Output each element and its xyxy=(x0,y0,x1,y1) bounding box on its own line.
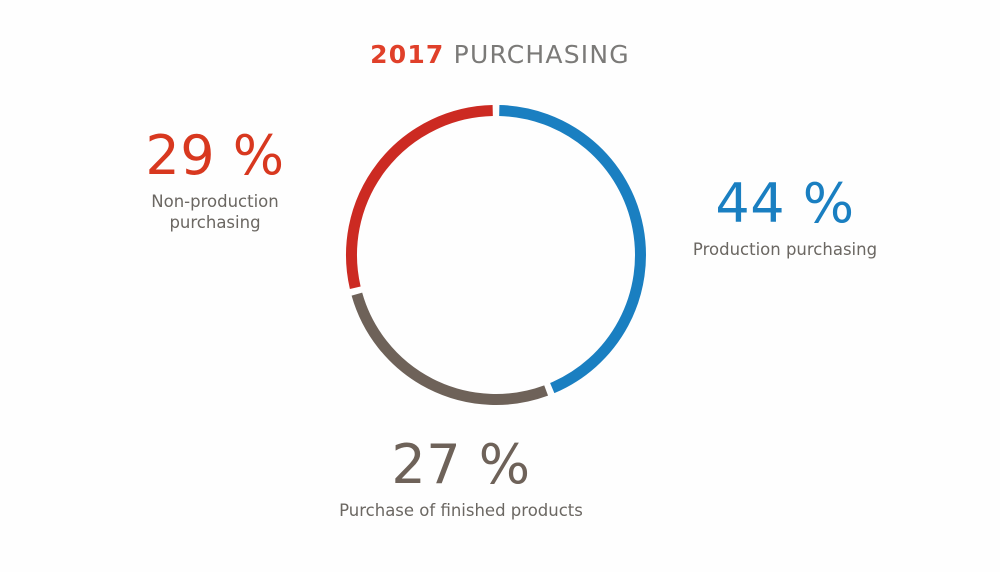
callout-caption-production: Production purchasing xyxy=(640,239,930,260)
callout-percent-non-production: 29 % xyxy=(90,128,340,185)
donut-slice-group xyxy=(352,111,641,400)
chart-title: 2017 PURCHASING xyxy=(0,40,1000,69)
donut-slice xyxy=(499,111,640,389)
donut-slice xyxy=(357,294,546,399)
watermark xyxy=(2,2,46,30)
chart-title-word: PURCHASING xyxy=(454,40,630,69)
callout-caption-non-production: Non-production purchasing xyxy=(90,191,340,233)
donut-slice xyxy=(352,111,493,288)
chart-title-year: 2017 xyxy=(370,40,444,69)
callout-finished-products: 27 % Purchase of finished products xyxy=(316,437,606,521)
callout-percent-production: 44 % xyxy=(640,176,930,233)
callout-production-purchasing: 44 % Production purchasing xyxy=(640,176,930,260)
chart-canvas: 2017 PURCHASING 29 % Non-production purc… xyxy=(0,0,1000,572)
callout-percent-finished-products: 27 % xyxy=(316,437,606,494)
donut-svg xyxy=(346,105,646,405)
callout-non-production-purchasing: 29 % Non-production purchasing xyxy=(90,128,340,233)
callout-caption-finished-products: Purchase of finished products xyxy=(316,500,606,521)
donut-chart xyxy=(346,105,646,405)
